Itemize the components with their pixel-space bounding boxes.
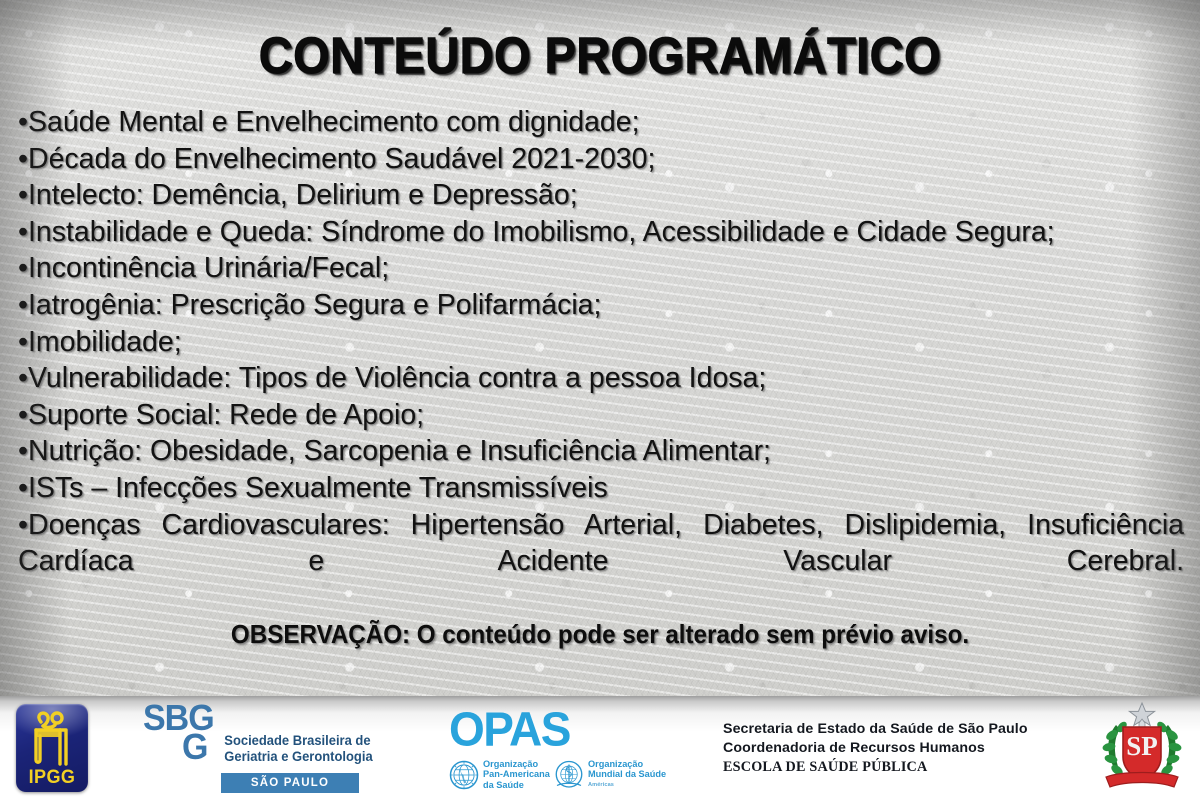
bullet-icon: • — [18, 179, 28, 211]
list-item-label: Vulnerabilidade: Tipos de Violência cont… — [28, 362, 766, 394]
secretaria-block: Secretaria de Estado da Saúde de São Pau… — [723, 720, 1063, 777]
list-item: •Vulnerabilidade: Tipos de Violência con… — [18, 360, 1184, 397]
observation-note: OBSERVAÇÃO: O conteúdo pode ser alterado… — [42, 617, 1158, 651]
page-title: CONTEÚDO PROGRAMÁTICO — [48, 27, 1152, 85]
list-item-label: Nutrição: Obesidade, Sarcopenia e Insufi… — [28, 435, 771, 467]
bullet-icon: • — [18, 472, 28, 504]
bullet-icon: • — [18, 106, 28, 138]
bullet-icon: • — [18, 509, 28, 541]
list-item-label: Suporte Social: Rede de Apoio; — [28, 399, 424, 431]
footer-logo-bar: IPGG SBG G Sociedade Brasileira de Geria… — [0, 696, 1200, 800]
secretaria-line1: Secretaria de Estado da Saúde de São Pau… — [723, 720, 1063, 739]
sbgg-name: Sociedade Brasileira de Geriatria e Gero… — [224, 733, 382, 765]
paho-name: Organização Pan-Americana da Saúde — [483, 759, 550, 790]
bullet-icon: • — [18, 289, 28, 321]
list-item: •Suporte Social: Rede de Apoio; — [18, 397, 1184, 434]
list-item-label: Imobilidade; — [28, 326, 182, 358]
list-item: •Década do Envelhecimento Saudável 2021-… — [18, 141, 1184, 178]
bullet-icon: • — [18, 362, 28, 394]
program-content-list: •Saúde Mental e Envelhecimento com digni… — [18, 104, 1184, 616]
list-item: •ISTs – Infecções Sexualmente Transmissí… — [18, 470, 1184, 507]
who-emblem-icon — [554, 760, 584, 790]
list-item-label: Instabilidade e Queda: Síndrome do Imobi… — [28, 216, 1055, 248]
list-item: •Imobilidade; — [18, 324, 1184, 361]
sbgg-name-line2: Geriatria e Gerontologia — [224, 749, 382, 765]
sbgg-chapter-badge: SÃO PAULO — [221, 773, 359, 793]
paho-name-line3: da Saúde — [483, 780, 524, 790]
ipgg-logo: IPGG — [16, 704, 88, 792]
list-item: •Saúde Mental e Envelhecimento com digni… — [18, 104, 1184, 141]
bullet-icon: • — [18, 143, 28, 175]
list-item-label: ISTs – Infecções Sexualmente Transmissív… — [28, 472, 608, 504]
bullet-icon: • — [18, 399, 28, 431]
list-item-label: Incontinência Urinária/Fecal; — [28, 252, 389, 284]
list-item-label: Doenças Cardiovasculares: Hipertensão Ar… — [18, 509, 1184, 578]
list-item: •Iatrogênia: Prescrição Segura e Polifar… — [18, 287, 1184, 324]
sbgg-logo: SBG G Sociedade Brasileira de Geriatria … — [143, 705, 383, 793]
list-item-label: Saúde Mental e Envelhecimento com dignid… — [28, 106, 640, 138]
list-item-label: Iatrogênia: Prescrição Segura e Polifarm… — [28, 289, 601, 321]
opas-logo: OPAS Organização — [447, 706, 672, 792]
list-item: •Nutrição: Obesidade, Sarcopenia e Insuf… — [18, 433, 1184, 470]
sbgg-name-line1: Sociedade Brasileira de — [224, 733, 382, 749]
who-name: Organização Mundial da Saúde Américas — [588, 759, 666, 790]
sao-paulo-coat-of-arms-icon: SP — [1096, 701, 1188, 795]
bullet-icon: • — [18, 435, 28, 467]
who-name-line3: Américas — [588, 780, 666, 790]
bullet-icon: • — [18, 326, 28, 358]
list-item-label: Década do Envelhecimento Saudável 2021-2… — [28, 143, 655, 175]
bullet-icon: • — [18, 252, 28, 284]
sp-initials: SP — [1126, 731, 1158, 761]
secretaria-line2: Coordenadoria de Recursos Humanos — [723, 739, 1063, 758]
paho-globe-icon — [449, 760, 479, 790]
opas-who-block: Organização Mundial da Saúde Américas — [554, 759, 666, 790]
slide-canvas: CONTEÚDO PROGRAMÁTICO •Saúde Mental e En… — [0, 0, 1200, 800]
who-name-line2: Mundial da Saúde — [588, 769, 666, 779]
list-item-label: Intelecto: Demência, Delirium e Depressã… — [28, 179, 578, 211]
list-item: •Doenças Cardiovasculares: Hipertensão A… — [18, 507, 1184, 617]
list-item: •Intelecto: Demência, Delirium e Depress… — [18, 177, 1184, 214]
list-item: •Instabilidade e Queda: Síndrome do Imob… — [18, 214, 1184, 251]
bullet-icon: • — [18, 216, 28, 248]
who-name-line1: Organização — [588, 759, 643, 769]
ipgg-label: IPGG — [18, 767, 86, 789]
secretaria-line3: ESCOLA DE SAÚDE PÚBLICA — [723, 758, 1063, 777]
opas-paho-block: Organização Pan-Americana da Saúde — [449, 759, 550, 790]
sbgg-monogram-icon: SBG G — [143, 704, 214, 763]
list-item: •Incontinência Urinária/Fecal; — [18, 250, 1184, 287]
opas-wordmark: OPAS — [449, 705, 570, 753]
paho-name-line1: Organização — [483, 759, 538, 769]
paho-name-line2: Pan-Americana — [483, 769, 550, 779]
ipgg-figure-icon — [16, 706, 88, 768]
